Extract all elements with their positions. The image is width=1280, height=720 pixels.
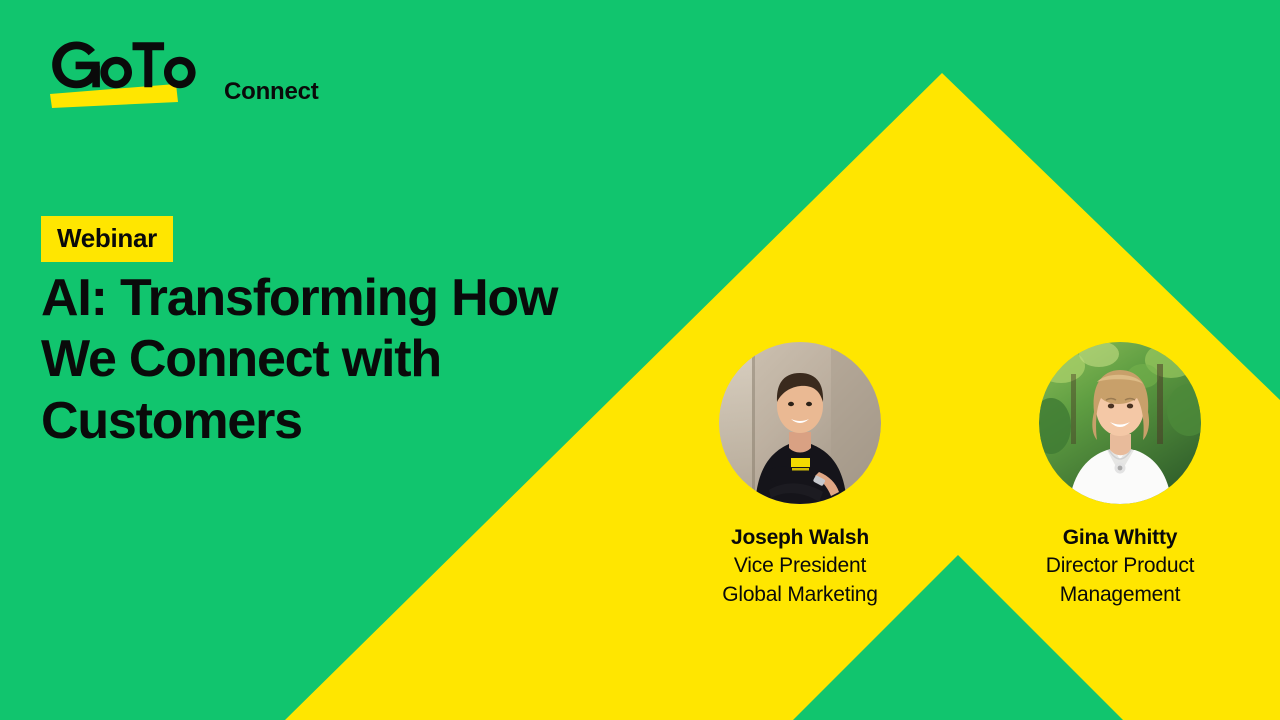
- goto-wordmark-icon: [48, 36, 228, 108]
- speaker-card: Gina Whitty Director Product Management: [970, 340, 1270, 610]
- headshot-gina-whitty-image: [1039, 340, 1201, 506]
- logo-product-name: Connect: [224, 80, 319, 104]
- speaker-title-line-1: Vice President: [734, 552, 866, 581]
- headshot-joseph-walsh-image: [719, 340, 881, 506]
- speaker-list: Joseph Walsh Vice President Global Marke…: [640, 340, 1280, 610]
- logo-letter-t: [133, 42, 165, 87]
- speaker-card: Joseph Walsh Vice President Global Marke…: [650, 340, 950, 610]
- webinar-title-slide: Connect Webinar AI: Transforming How We …: [0, 0, 1280, 720]
- logo-letter-g-stem: [92, 66, 100, 88]
- headline-line-1: AI: Transforming How: [41, 269, 557, 327]
- avatar: [1039, 340, 1201, 506]
- headline-line-2: We Connect with: [41, 330, 441, 388]
- speaker-name: Joseph Walsh: [731, 524, 869, 552]
- logo-letter-o-1: [100, 57, 132, 88]
- headline-line-3: Customers: [41, 392, 302, 450]
- page-title: AI: Transforming How We Connect with Cus…: [41, 268, 641, 452]
- goto-connect-logo: Connect: [48, 36, 338, 116]
- speaker-title-line-2: Global Marketing: [722, 581, 878, 610]
- avatar: [719, 340, 881, 506]
- speaker-name: Gina Whitty: [1063, 524, 1177, 552]
- speaker-title-line-2: Management: [1060, 581, 1181, 610]
- logo-letter-o-2: [164, 57, 196, 88]
- speaker-title-line-1: Director Product: [1046, 552, 1195, 581]
- webinar-badge: Webinar: [41, 216, 173, 262]
- webinar-badge-label: Webinar: [57, 225, 157, 251]
